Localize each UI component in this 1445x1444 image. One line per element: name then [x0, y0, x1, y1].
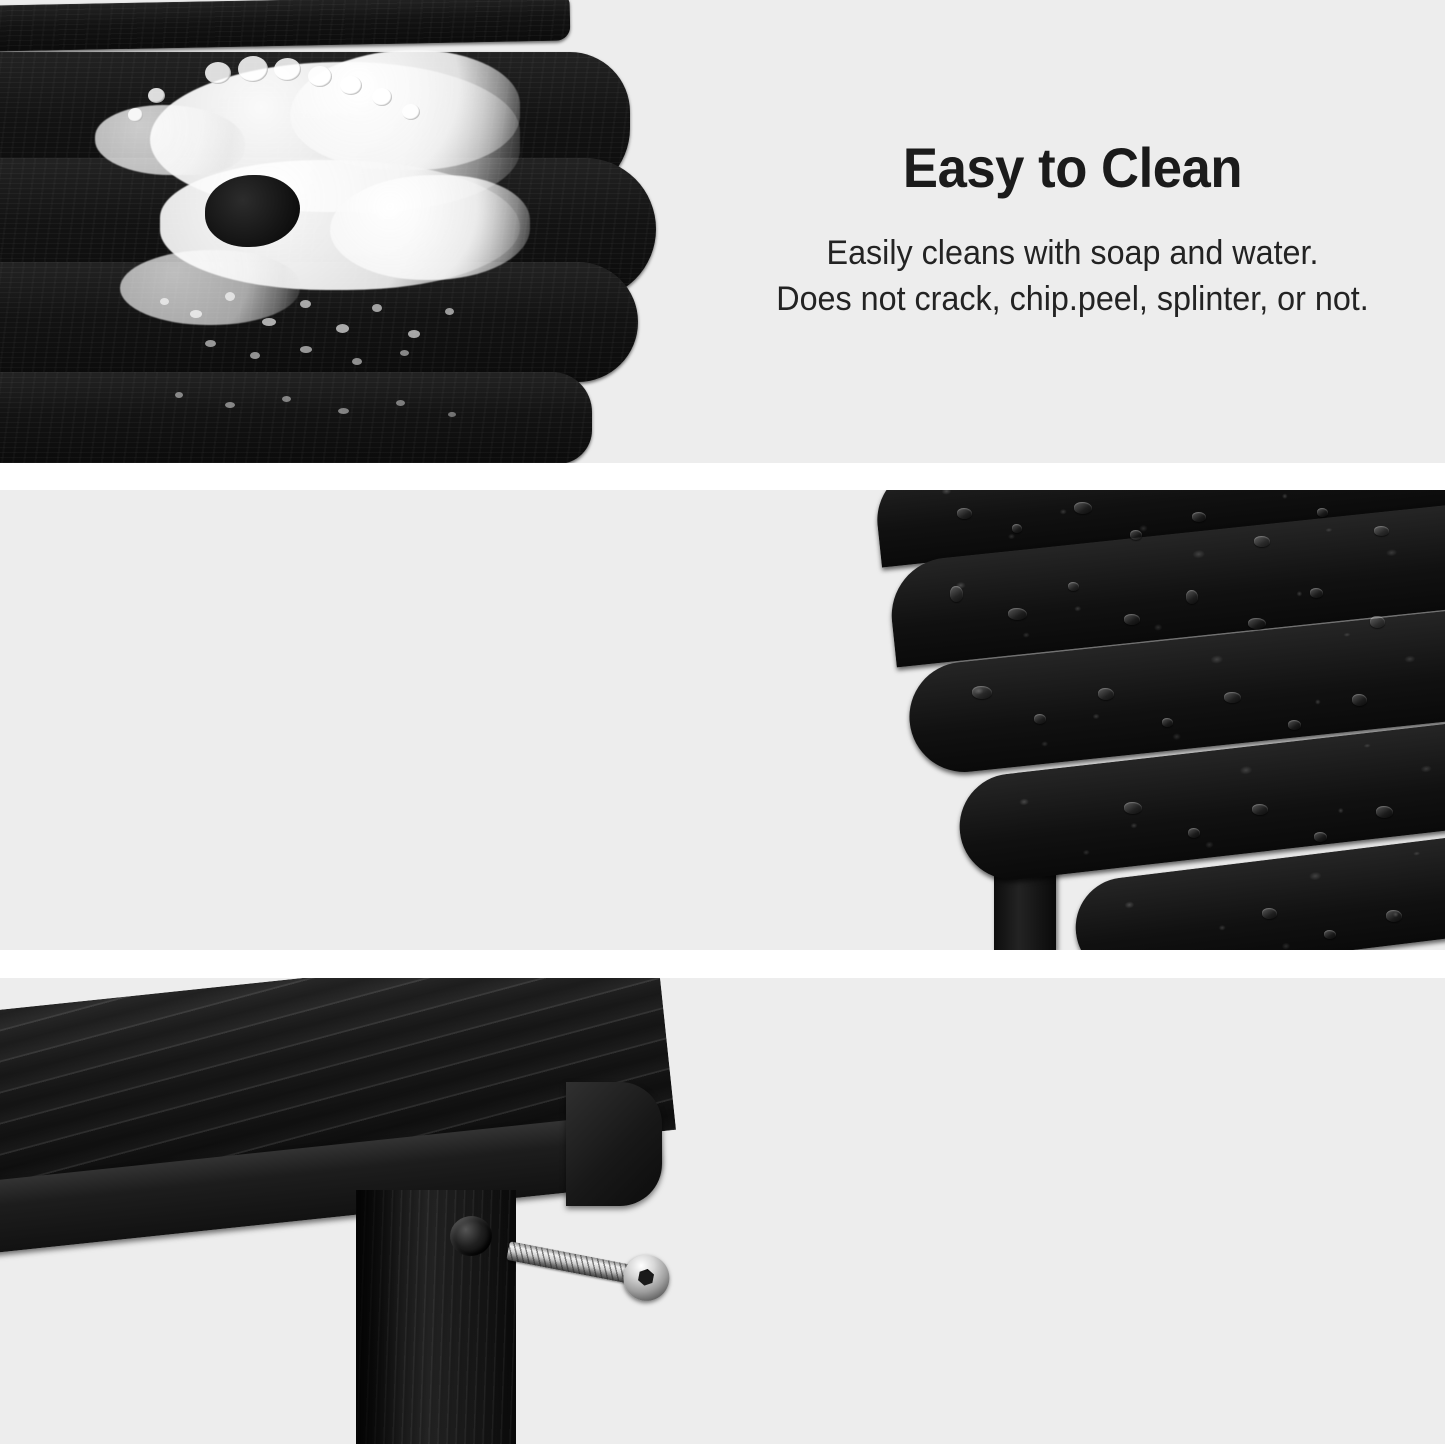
water-beading-on-chair-photo [862, 490, 1445, 950]
product-feature-infographic: Easy to Clean Easily cleans with soap an… [0, 0, 1445, 1444]
chair-leg-shadow-face [356, 1190, 400, 1444]
feature-panel-waterproof-and-durable: Waterproof and Durable Waterproof design… [0, 490, 1445, 950]
assembly-screw [504, 1228, 689, 1308]
water-droplet [300, 300, 311, 308]
feature-panel-quick-installation: Quick installation Simple structure and … [0, 978, 1445, 1444]
water-droplet [205, 340, 216, 347]
water-droplet [225, 402, 235, 408]
soap-foam [330, 175, 530, 280]
soap-bubble [308, 66, 332, 87]
water-droplet [282, 396, 291, 402]
water-droplet [396, 400, 405, 406]
water-droplet [352, 358, 362, 365]
panel-divider [0, 950, 1445, 978]
easy-to-clean-text-block: Easy to Clean Easily cleans with soap an… [700, 138, 1445, 322]
feature-panel-easy-to-clean: Easy to Clean Easily cleans with soap an… [0, 0, 1445, 463]
water-droplet [262, 318, 276, 326]
screw-shaft [506, 1241, 635, 1284]
soap-bubble [340, 76, 362, 95]
water-droplet [408, 330, 420, 338]
panel-heading: Easy to Clean [722, 138, 1422, 198]
soap-bubble [402, 104, 420, 120]
water-droplet [400, 350, 409, 356]
water-droplet [250, 352, 260, 359]
soap-bubble [205, 62, 231, 84]
soap-bubble [372, 88, 392, 106]
chair-seat-corner [566, 1082, 662, 1206]
panel-body: Easily cleans with soap and water. Does … [700, 230, 1445, 322]
soap-bubble [148, 88, 165, 103]
water-droplet [448, 412, 456, 417]
screw-assembly-photo [0, 978, 700, 1444]
water-droplet [160, 298, 169, 305]
water-droplet [372, 304, 382, 312]
soap-bubble [274, 58, 301, 81]
water-droplet [300, 346, 312, 353]
chair-slat [0, 372, 592, 463]
panel-divider [0, 463, 1445, 490]
soap-bubble [238, 56, 268, 82]
soap-bubble [128, 108, 143, 122]
chair-slat [0, 0, 570, 52]
water-droplet [225, 292, 235, 301]
water-droplet [175, 392, 183, 398]
soap-foam-on-slats-photo [0, 0, 668, 463]
soap-foam [120, 250, 300, 325]
panel-body-line: Does not crack, chip.peel, splinter, or … [719, 276, 1427, 322]
water-droplet [338, 408, 349, 414]
water-droplet [190, 310, 202, 318]
water-droplet [445, 308, 454, 315]
panel-body-line: Easily cleans with soap and water. [719, 230, 1427, 276]
water-droplet [336, 324, 349, 333]
